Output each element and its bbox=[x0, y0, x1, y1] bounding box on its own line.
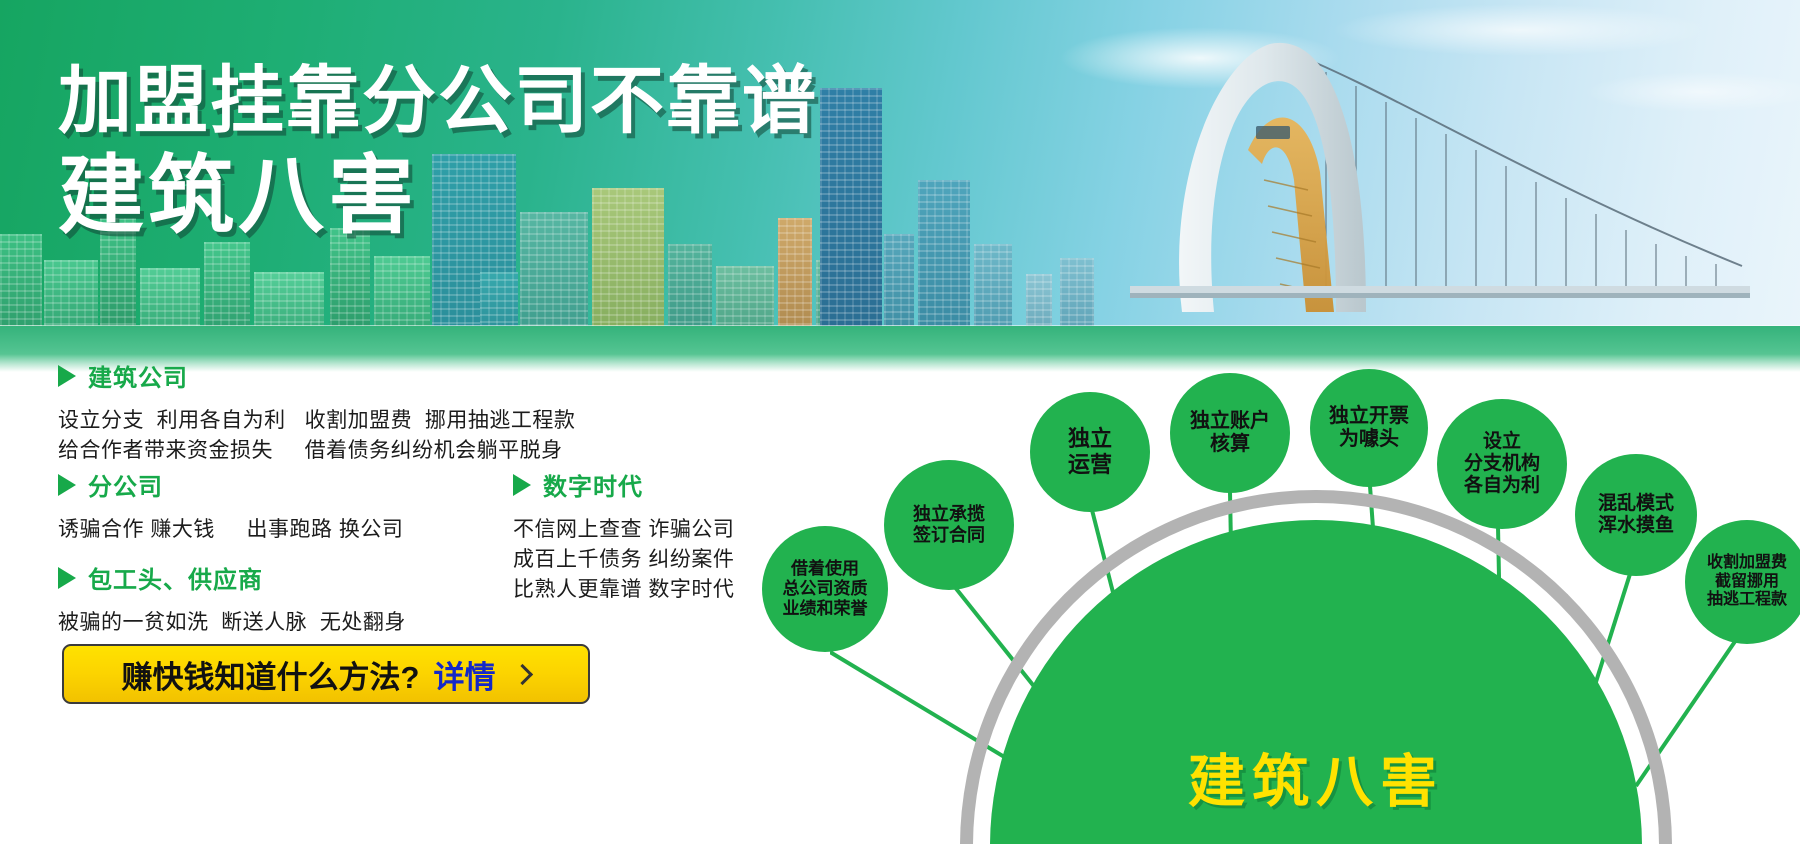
section-body: 诱骗合作 赚大钱 出事跑路 换公司 bbox=[58, 515, 403, 545]
bubble-item-1[interactable]: 借着使用 总公司资质 业绩和荣誉 bbox=[762, 526, 888, 652]
triangle-bullet-icon bbox=[58, 567, 76, 589]
hero-title: 加盟挂靠分公司不靠谱 建筑八害 bbox=[58, 62, 818, 245]
hero-title-line-2: 建筑八害 bbox=[58, 148, 818, 244]
triangle-bullet-icon bbox=[58, 474, 76, 496]
section-contractor-supplier: 包工头、供应商 被骗的一贫如洗 断送人脉 无处翻身 bbox=[58, 560, 406, 638]
section-body: 设立分支 利用各自为利 收割加盟费 挪用抽逃工程款 给合作者带来资金损失 借着债… bbox=[58, 406, 575, 466]
section-line-dark: 给合作者带来资金损失 bbox=[58, 436, 305, 466]
section-digital-era: 数字时代 不信网上查查 诈骗公司 成百上千债务 纠纷案件 比熟人更靠谱 数字时代 bbox=[513, 467, 734, 604]
section-title: 建筑公司 bbox=[88, 358, 188, 393]
section-line: 不信网上查查 诈骗公司 bbox=[513, 515, 734, 545]
section-line: 比熟人更靠谱 数字时代 bbox=[513, 575, 734, 605]
section-header: 包工头、供应商 bbox=[58, 560, 406, 595]
section-header: 分公司 bbox=[58, 467, 403, 502]
section-branch-company: 分公司 诱骗合作 赚大钱 出事跑路 换公司 bbox=[58, 467, 403, 545]
section-construction-company: 建筑公司 设立分支 利用各自为利 收割加盟费 挪用抽逃工程款 给合作者带来资金损… bbox=[58, 358, 575, 466]
bridge-illustration bbox=[1130, 30, 1750, 330]
bubble-item-2[interactable]: 独立承揽 签订合同 bbox=[884, 460, 1014, 590]
bubble-item-4[interactable]: 独立账户 核算 bbox=[1170, 373, 1290, 493]
left-content-column: 建筑公司 设立分支 利用各自为利 收割加盟费 挪用抽逃工程款 给合作者带来资金损… bbox=[0, 372, 830, 844]
triangle-bullet-icon bbox=[58, 365, 76, 387]
section-header: 数字时代 bbox=[513, 467, 734, 502]
bubble-diagram: 建筑八害 借着使用 总公司资质 业绩和荣誉 独立承揽 签订合同 独立 运营 独立… bbox=[830, 372, 1800, 844]
poster-root: 加盟挂靠分公司不靠谱 建筑八害 建筑公司 设立分支 利用各自为利 收割加盟费 挪… bbox=[0, 0, 1800, 844]
bubble-item-7[interactable]: 混乱模式 浑水摸鱼 bbox=[1575, 454, 1697, 576]
chevron-right-icon bbox=[512, 663, 533, 684]
section-line-split: 给合作者带来资金损失 借着债务纠纷机会躺平脱身 bbox=[58, 436, 575, 466]
section-line-green: 借着债务纠纷机会躺平脱身 bbox=[305, 436, 563, 466]
bubble-item-8[interactable]: 收割加盟费 截留挪用 抽逃工程款 bbox=[1685, 520, 1800, 644]
section-title: 分公司 bbox=[88, 467, 163, 502]
section-title: 数字时代 bbox=[543, 467, 643, 502]
cta-button[interactable]: 赚快钱知道什么方法? 详情 bbox=[62, 644, 590, 704]
bubble-item-3[interactable]: 独立 运营 bbox=[1030, 392, 1150, 512]
section-line: 设立分支 利用各自为利 收割加盟费 挪用抽逃工程款 bbox=[58, 406, 575, 436]
cta-detail-link[interactable]: 详情 bbox=[433, 652, 495, 697]
section-line: 成百上千债务 纠纷案件 bbox=[513, 545, 734, 575]
bubble-item-6[interactable]: 设立 分支机构 各自为利 bbox=[1437, 399, 1567, 529]
section-title: 包工头、供应商 bbox=[88, 560, 263, 595]
hero-banner: 加盟挂靠分公司不靠谱 建筑八害 bbox=[0, 0, 1800, 372]
triangle-bullet-icon bbox=[513, 474, 531, 496]
bubble-item-5[interactable]: 独立开票 为噱头 bbox=[1310, 369, 1428, 487]
section-line: 被骗的一贫如洗 断送人脉 无处翻身 bbox=[58, 608, 406, 638]
section-body: 不信网上查查 诈骗公司 成百上千债务 纠纷案件 比熟人更靠谱 数字时代 bbox=[513, 515, 734, 604]
section-body: 被骗的一贫如洗 断送人脉 无处翻身 bbox=[58, 608, 406, 638]
dome-base: 建筑八害 bbox=[830, 584, 1800, 844]
cta-question-label: 赚快钱知道什么方法? bbox=[122, 652, 420, 697]
section-header: 建筑公司 bbox=[58, 358, 575, 393]
hero-title-line-1: 加盟挂靠分公司不靠谱 bbox=[58, 62, 818, 140]
section-line: 诱骗合作 赚大钱 出事跑路 换公司 bbox=[58, 515, 403, 545]
dome-center-label: 建筑八害 bbox=[990, 736, 1642, 818]
